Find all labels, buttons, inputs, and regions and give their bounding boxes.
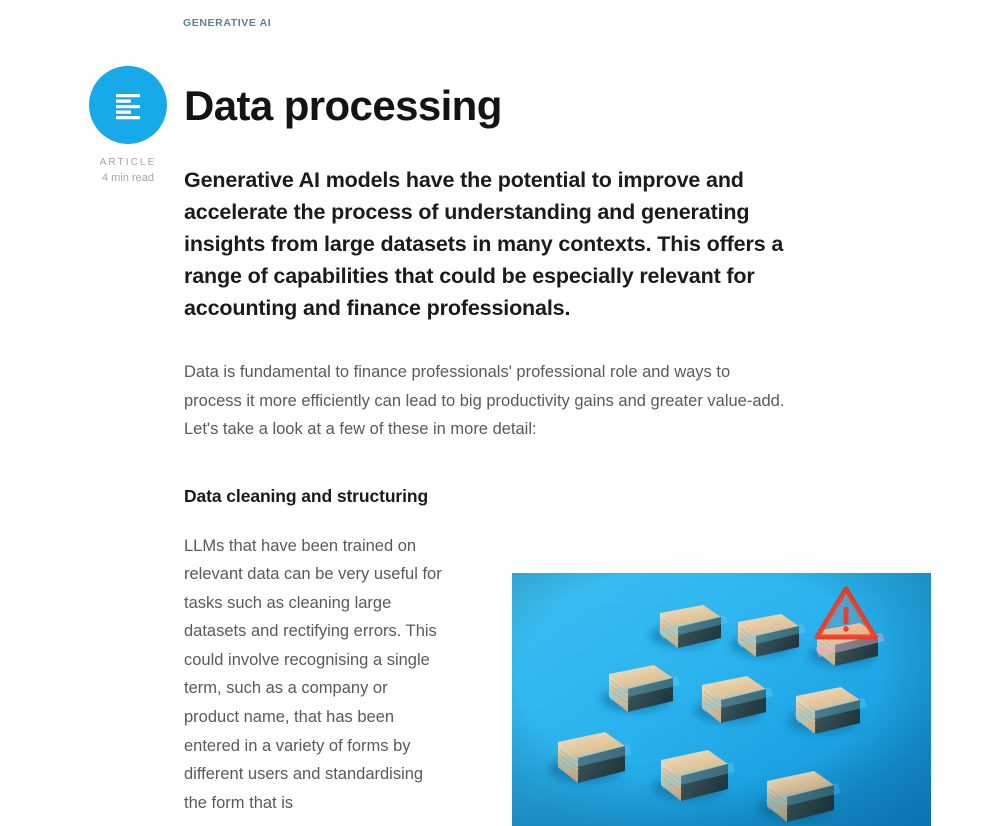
article-lines-icon	[113, 90, 143, 120]
article-meta-rail: ARTICLE 4 min read	[87, 66, 169, 185]
section-heading: Data cleaning and structuring	[184, 444, 884, 508]
read-time-label: 4 min read	[87, 171, 169, 185]
page-title: Data processing	[184, 80, 884, 132]
wooden-blocks-with-warning-photo: Wooden blocks arranged in a grid on a br…	[512, 573, 931, 826]
article-type-label: ARTICLE	[87, 156, 169, 169]
article-lede: Generative AI models have the potential …	[184, 132, 809, 324]
category-eyebrow-link[interactable]: GENERATIVE AI	[183, 16, 271, 30]
article-page: GENERATIVE AI ARTICLE 4 min read Data pr…	[0, 0, 1000, 810]
article-type-badge	[89, 66, 167, 144]
article-intro-paragraph: Data is fundamental to finance professio…	[184, 324, 789, 444]
section-paragraph: LLMs that have been trained on relevant …	[184, 532, 446, 818]
